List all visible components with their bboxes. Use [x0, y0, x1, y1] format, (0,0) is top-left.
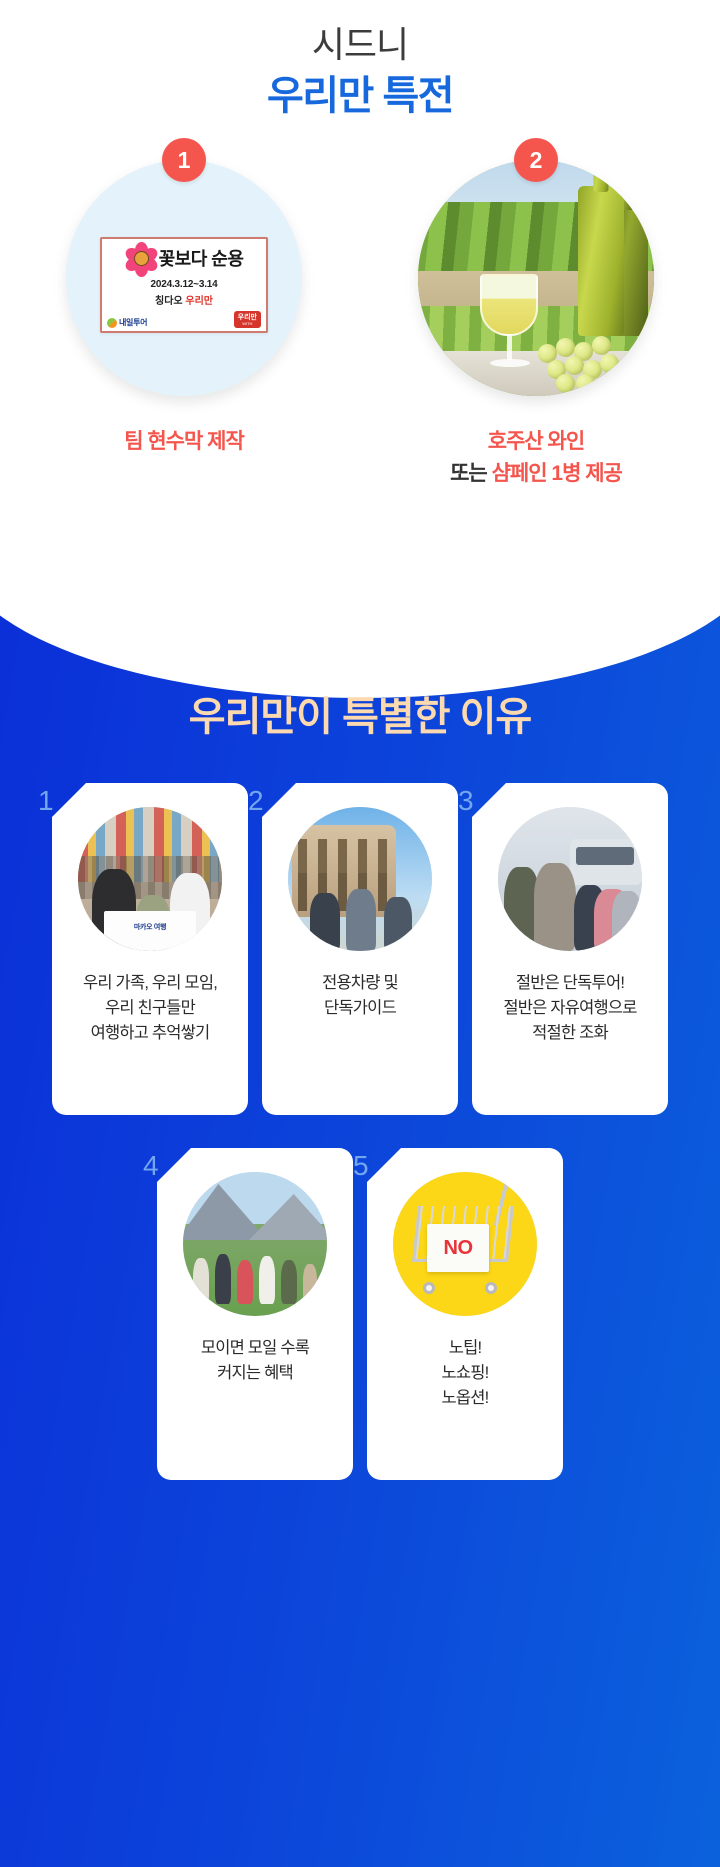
banner-place-prefix: 칭다오: [155, 296, 185, 307]
feature-item-2: 2: [391, 160, 681, 490]
top-heading: 시드니 우리만 특전: [0, 0, 720, 121]
banner-place-highlight: 우리만: [185, 296, 213, 307]
reasons-subtitle: 내일투어 호주: [0, 643, 720, 685]
meadow-group-photo: [183, 1172, 327, 1316]
feature-1-caption: 팀 현수막 제작: [124, 426, 244, 458]
shopping-cart-art: NO: [393, 1172, 537, 1316]
group-travelers-photo: [498, 807, 642, 951]
reason-card-row-1: 1 마카오 여행 우리 가족, 우리 모임, 우리 친구들만 여행하고 추억쌓기…: [0, 783, 720, 1115]
top-subtitle: 시드니: [0, 22, 720, 67]
reason-card-3-number: 3: [458, 787, 474, 815]
group-scene-art: [498, 807, 642, 951]
reason-card-2[interactable]: 전용차량 및 단독가이드: [262, 783, 458, 1115]
flower-icon: [125, 244, 157, 274]
australian-wine-photo: [418, 160, 654, 396]
reasons-heading: 내일투어 호주 우리만이 특별한 이유: [0, 643, 720, 743]
feature-row: 1 꽃보다 순용 2024.3.12~3.14 칭다오 우리만: [0, 160, 720, 490]
feature-2-caption-line-2: 샴페인 1병 제공: [492, 462, 622, 485]
team-banner-photo: 꽃보다 순용 2024.3.12~3.14 칭다오 우리만 내일투어 우리만 W: [66, 160, 302, 396]
naeiltour-mark-icon: [107, 318, 117, 328]
feature-item-1: 1 꽃보다 순용 2024.3.12~3.14 칭다오 우리만: [39, 160, 329, 490]
urimAN-badge: 우리만 WITH: [234, 311, 261, 328]
urimAN-badge-sub: WITH: [238, 322, 257, 326]
reason-card-row-2: 4 모이면 모일 수록 커지는 혜택 5: [0, 1148, 720, 1480]
reason-card-3[interactable]: 절반은 단독투어! 절반은 자유여행으로 적절한 조화: [472, 783, 668, 1115]
street-scene-art: 마카오 여행: [78, 807, 222, 951]
reason-card-slot-1: 1 마카오 여행 우리 가족, 우리 모임, 우리 친구들만 여행하고 추억쌓기: [52, 783, 248, 1115]
banner-date: 2024.3.12~3.14: [151, 279, 218, 290]
naeiltour-logo: 내일투어: [107, 317, 147, 328]
reason-card-1[interactable]: 마카오 여행 우리 가족, 우리 모임, 우리 친구들만 여행하고 추억쌓기: [52, 783, 248, 1115]
feature-1-number-badge: 1: [162, 138, 206, 182]
banner-title: 꽃보다 순용: [159, 250, 244, 268]
reason-card-4-text: 모이면 모일 수록 커지는 혜택: [201, 1336, 309, 1386]
no-shopping-cart-photo: NO: [393, 1172, 537, 1316]
reason-card-3-text: 절반은 단독투어! 절반은 자유여행으로 적절한 조화: [503, 971, 636, 1046]
reason-card-1-number: 1: [38, 787, 54, 815]
reasons-title: 우리만이 특별한 이유: [0, 691, 720, 743]
banner-footer: 내일투어 우리만 WITH: [102, 311, 266, 328]
reason-card-5[interactable]: NO 노팁! 노쇼핑! 노옵션!: [367, 1148, 563, 1480]
feature-2-caption-prefix: 또는: [450, 462, 491, 485]
reason-card-slot-5: 5 NO 노팁! 노쇼핑! 노옵션!: [367, 1148, 563, 1480]
feature-1-caption-line-1: 팀 현수막 제작: [124, 430, 244, 453]
no-sign-text: NO: [444, 1237, 473, 1260]
top-title: 우리만 특전: [0, 71, 720, 121]
feature-2-caption-line-1: 호주산 와인: [488, 430, 584, 453]
feature-2-caption: 호주산 와인 또는 샴페인 1병 제공: [450, 426, 622, 490]
feature-2-number-badge: 2: [514, 138, 558, 182]
reason-card-1-text: 우리 가족, 우리 모임, 우리 친구들만 여행하고 추억쌓기: [83, 971, 217, 1046]
reason-card-2-text: 전용차량 및 단독가이드: [322, 971, 398, 1021]
reason-card-4-number: 4: [143, 1152, 159, 1180]
grapes-cluster: [534, 320, 620, 382]
banner-place: 칭다오 우리만: [155, 292, 213, 307]
meadow-scene-art: [183, 1172, 327, 1316]
wine-glass: [480, 274, 538, 370]
reason-card-4[interactable]: 모이면 모일 수록 커지는 혜택: [157, 1148, 353, 1480]
reason-card-5-number: 5: [353, 1152, 369, 1180]
colosseum-tour-photo: [288, 807, 432, 951]
urimAN-badge-text: 우리만: [238, 314, 257, 321]
family-street-photo: 마카오 여행: [78, 807, 222, 951]
reason-card-2-number: 2: [248, 787, 264, 815]
no-sign: NO: [427, 1224, 489, 1272]
reason-card-slot-3: 3 절반은 단독투어! 절반은 자유여행으로 적절한 조화: [472, 783, 668, 1115]
feature-2-circle-wrap: 2: [418, 160, 654, 396]
colosseum-scene-art: [288, 807, 432, 951]
reasons-section: 내일투어 호주 우리만이 특별한 이유 1 마카오 여행 우리 가족, 우리 모…: [0, 548, 720, 1867]
reason-card-5-text: 노팁! 노쇼핑! 노옵션!: [442, 1336, 489, 1411]
naeiltour-logo-text: 내일투어: [119, 317, 147, 328]
feature-1-circle-wrap: 1 꽃보다 순용 2024.3.12~3.14 칭다오 우리만: [66, 160, 302, 396]
wine-bottle-front: [578, 186, 624, 336]
reason-card-slot-2: 2 전용차량 및 단독가이드: [262, 783, 458, 1115]
reason-card-slot-4: 4 모이면 모일 수록 커지는 혜택: [157, 1148, 353, 1480]
banner-artwork: 꽃보다 순용 2024.3.12~3.14 칭다오 우리만 내일투어 우리만 W: [100, 237, 268, 333]
macau-banner: 마카오 여행: [104, 911, 196, 951]
banner-title-row: 꽃보다 순용: [125, 244, 244, 274]
